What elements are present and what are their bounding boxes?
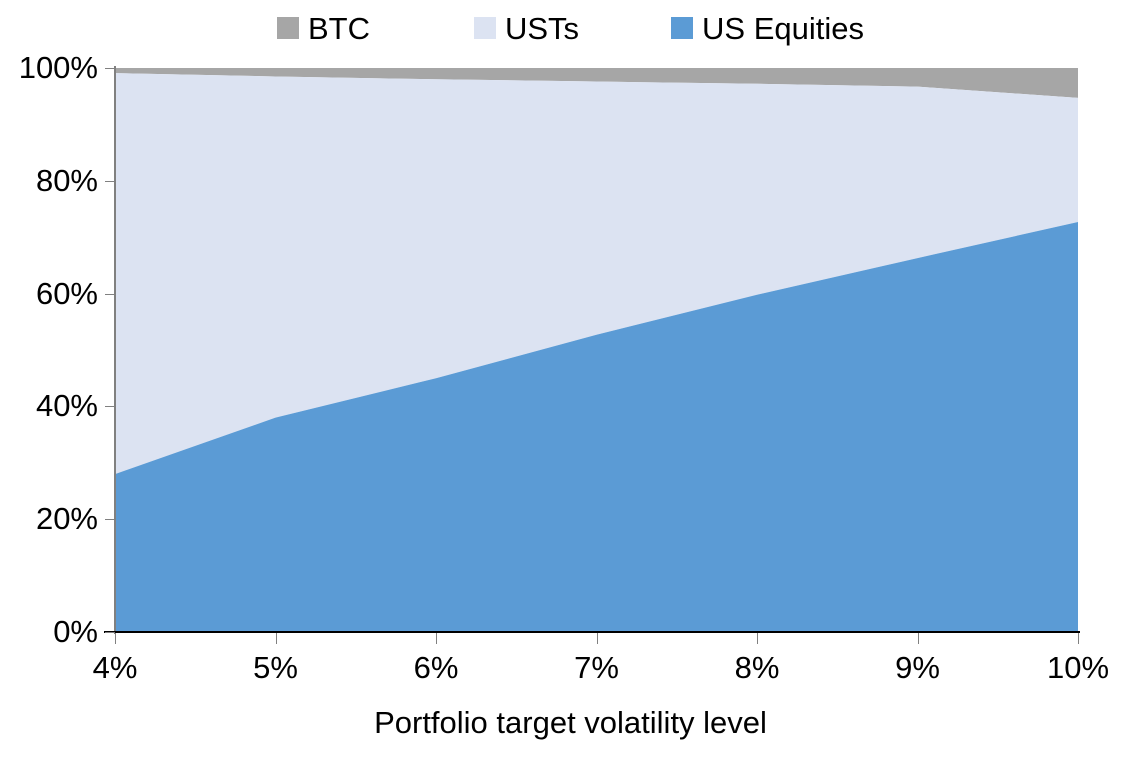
y-axis-tick-labels: 0%20%40%60%80%100% — [0, 0, 1141, 763]
y-axis-tick-label: 40% — [0, 390, 98, 421]
x-axis-tick-label: 8% — [697, 652, 817, 683]
x-axis-tick-label: 6% — [376, 652, 496, 683]
y-axis-tick-label: 100% — [0, 52, 98, 83]
stacked-area-chart: BTC USTs US Equities 0%20%40%60%80%100% … — [0, 0, 1141, 763]
y-axis-tick-label: 0% — [0, 616, 98, 647]
y-axis-tick-label: 20% — [0, 503, 98, 534]
x-axis-tick-label: 4% — [55, 652, 175, 683]
y-axis-tick-label: 60% — [0, 278, 98, 309]
x-axis-tick-label: 9% — [858, 652, 978, 683]
x-axis-tick-label: 5% — [216, 652, 336, 683]
x-axis-tick-label: 10% — [1018, 652, 1138, 683]
x-axis-tick-label: 7% — [537, 652, 657, 683]
y-axis-tick-label: 80% — [0, 165, 98, 196]
x-axis-title: Portfolio target volatility level — [0, 707, 1141, 738]
